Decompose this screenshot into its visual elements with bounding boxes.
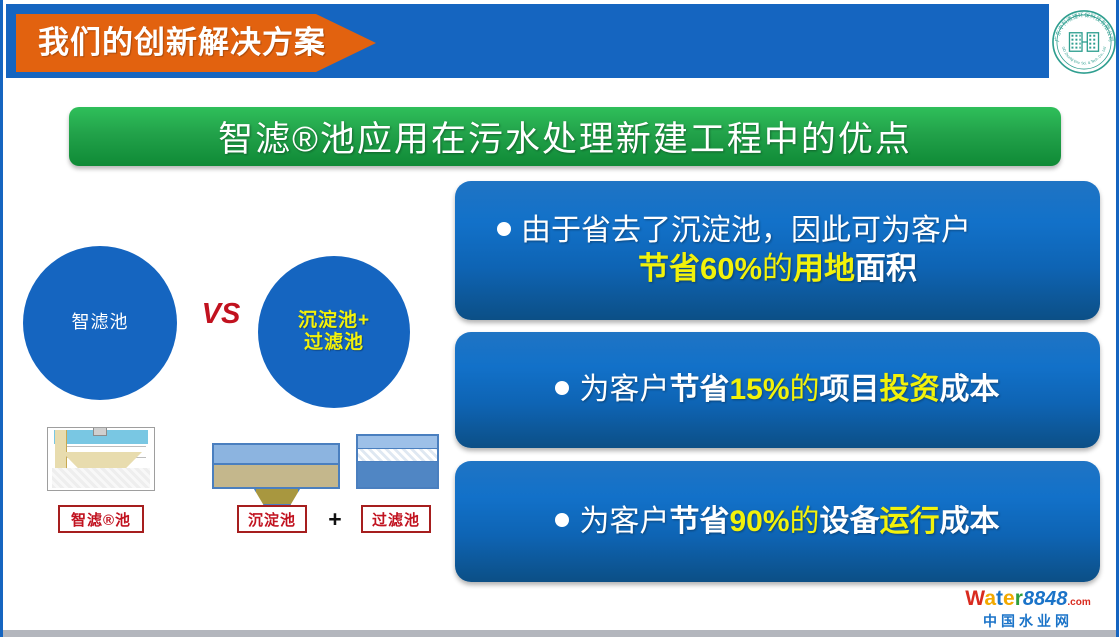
benefit-1-line-0-seg-3: 的 [790, 373, 820, 406]
benefit-1-line-0-seg-6: 成本 [940, 373, 1000, 406]
watermark-subtitle: 中国水业网 [958, 611, 1098, 631]
zhilv-riser-fitting [93, 427, 107, 436]
sed-water-layer [212, 443, 340, 465]
benefit-0-line-1-seg-0: 节省60% [638, 251, 762, 286]
benefit-box-operation-cost[interactable]: 为客户节省90%的设备运行成本 [455, 461, 1100, 582]
caption-filter-pool: 过滤池 [361, 505, 431, 533]
caption-sedimentation-pool: 沉淀池 [237, 505, 307, 533]
benefit-2-content: 为客户节省90%的设备运行成本 [477, 503, 1078, 541]
benefit-2-line-0-seg-3: 的 [790, 505, 820, 538]
filter-water-layer [358, 436, 437, 448]
watermark-letter-1: a [984, 587, 996, 610]
benefit-1-line-0-seg-2: 15% [729, 373, 789, 406]
company-logo-container: 广东中科清捷环保科技有限公司 GD Zhonkji Env. Sci. & Te… [1049, 2, 1119, 82]
benefit-0-line-1-seg-1: 的 [762, 251, 793, 286]
circle-sed-filter-pool: 沉淀池+ 过滤池 [258, 256, 410, 408]
benefit-box-land-area[interactable]: 由于省去了沉淀池，因此可为客户节省60%的用地面积 [455, 181, 1100, 320]
header-tag-label: 我们的创新解决方案 [38, 22, 338, 64]
header-band: 我们的创新解决方案 [6, 4, 1052, 78]
benefit-0-line-1: 节省60%的用地面积 [477, 250, 1078, 289]
circle-sed-line2: 过滤池 [304, 332, 364, 353]
filter-underdrain-layer [358, 462, 437, 487]
circle-zhilv-pool: 智滤池 [23, 246, 177, 400]
benefit-2-line-0-seg-4: 设备 [820, 505, 880, 538]
vs-label: VS [191, 298, 251, 331]
watermark-water8848: Water8848.com 中国水业网 [958, 588, 1098, 631]
benefit-2-line-0: 为客户节省90%的设备运行成本 [477, 503, 1078, 541]
bottom-gray-strip [3, 630, 1119, 637]
company-seal-icon: 广东中科清捷环保科技有限公司 GD Zhonkji Env. Sci. & Te… [1051, 9, 1117, 75]
watermark-wordmark: Water8848.com [958, 588, 1098, 609]
zhilv-sludge-layer [52, 468, 150, 488]
caption-zhilv-pool: 智滤®池 [58, 505, 144, 533]
circle-zhilv-label: 智滤池 [72, 312, 129, 333]
benefit-2-line-0-seg-6: 成本 [940, 505, 1000, 538]
slide-title-bar: 智滤®池应用在污水处理新建工程中的优点 [69, 107, 1061, 166]
watermark-letter-0: W [965, 587, 984, 610]
benefit-2-line-0-seg-5: 运行 [880, 505, 940, 538]
bullet-dot-icon [555, 381, 569, 395]
benefit-2-line-0-seg-2: 90% [729, 505, 789, 538]
benefit-1-content: 为客户节省15%的项目投资成本 [477, 371, 1078, 409]
benefit-1-line-0-seg-0: 为客户 [579, 373, 669, 406]
filter-media-layer [358, 448, 437, 462]
benefit-2-line-0-seg-0: 为客户 [579, 505, 669, 538]
benefit-0-line-0-seg-0: 由于省去了沉淀池，因此可为客户 [521, 214, 971, 247]
sed-hopper-shape [254, 489, 300, 506]
watermark-letter-3: e [1003, 587, 1015, 610]
benefit-1-line-0: 为客户节省15%的项目投资成本 [477, 371, 1078, 409]
caption-plus-sign: + [313, 505, 357, 533]
benefit-0-line-1-seg-3: 面积 [855, 251, 917, 286]
bullet-dot-icon [497, 222, 511, 236]
watermark-number: 8848 [1023, 588, 1068, 610]
watermark-letter-2: t [996, 587, 1003, 610]
filter-tank-diagram [356, 434, 439, 489]
sed-sludge-layer [212, 465, 340, 489]
watermark-tld: .com [1067, 597, 1090, 608]
benefit-0-line-1-seg-2: 用地 [793, 251, 855, 286]
benefit-2-line-0-seg-1: 节省 [669, 505, 729, 538]
watermark-letter-4: r [1015, 587, 1023, 610]
benefit-1-line-0-seg-5: 投资 [880, 373, 940, 406]
benefit-0-line-0: 由于省去了沉淀池，因此可为客户 [477, 212, 1078, 250]
zhilv-tank-diagram [47, 427, 155, 491]
circle-sed-line1: 沉淀池+ [298, 310, 370, 331]
slide-title-text: 智滤®池应用在污水处理新建工程中的优点 [218, 111, 912, 162]
benefit-0-content: 由于省去了沉淀池，因此可为客户节省60%的用地面积 [477, 212, 1078, 288]
slide-canvas: 我们的创新解决方案 [0, 0, 1119, 637]
benefit-1-line-0-seg-4: 项目 [820, 373, 880, 406]
benefit-1-line-0-seg-1: 节省 [669, 373, 729, 406]
benefit-box-investment-cost[interactable]: 为客户节省15%的项目投资成本 [455, 332, 1100, 448]
sedimentation-tank-diagram [212, 443, 340, 489]
circle-sed-filter-label: 沉淀池+ 过滤池 [298, 310, 370, 355]
bullet-dot-icon [555, 513, 569, 527]
